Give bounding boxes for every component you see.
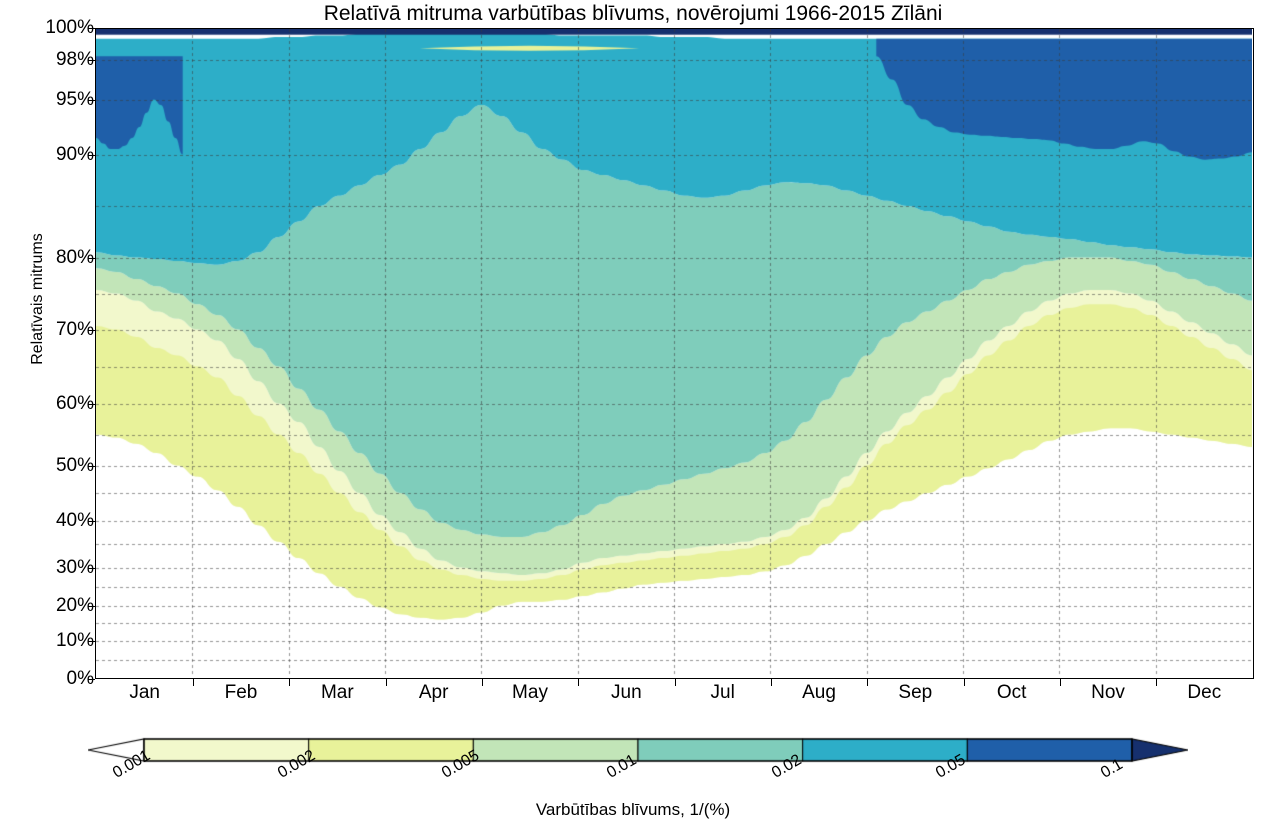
- x-axis-tick-mark: [1060, 679, 1061, 686]
- colorbar-canvas: [88, 733, 1188, 767]
- x-axis-tick-label: Jul: [711, 682, 735, 704]
- y-axis-tick-mark: [88, 568, 95, 569]
- colorbar: [88, 733, 1188, 767]
- colorbar-title: Varbūtības blīvums, 1/(%): [0, 800, 1266, 820]
- y-axis-tick-mark: [88, 404, 95, 405]
- x-axis-tick-mark: [1156, 679, 1157, 686]
- y-axis-tick-mark: [88, 330, 95, 331]
- y-axis-tick-mark: [88, 100, 95, 101]
- x-axis-tick-mark: [386, 679, 387, 686]
- plot-area: [95, 28, 1254, 679]
- x-axis-tick-label: Sep: [898, 682, 932, 704]
- y-axis-title: Relatīvais mitrums: [29, 169, 47, 429]
- x-axis-tick-mark: [771, 679, 772, 686]
- x-axis-tick-mark: [675, 679, 676, 686]
- y-axis-tick-mark: [88, 641, 95, 642]
- x-axis-tick-mark: [482, 679, 483, 686]
- y-axis-tick-mark: [88, 28, 95, 29]
- x-axis-tick-label: Aug: [802, 682, 836, 704]
- y-axis-tick-mark: [88, 466, 95, 467]
- x-axis-tick-label: May: [512, 682, 548, 704]
- x-axis-tick-mark: [964, 679, 965, 686]
- x-axis-tick-label: Oct: [997, 682, 1027, 704]
- x-axis-tick-label: Dec: [1187, 682, 1221, 704]
- x-axis-tick-label: Jun: [611, 682, 642, 704]
- contour-plot-canvas: [96, 29, 1252, 677]
- y-axis-tick-mark: [88, 606, 95, 607]
- x-axis-tick-mark: [193, 679, 194, 686]
- y-axis-tick-mark: [88, 60, 95, 61]
- y-axis-tick-mark: [88, 155, 95, 156]
- x-axis-tick-label: Jan: [129, 682, 160, 704]
- y-axis-tick-mark: [88, 258, 95, 259]
- x-axis-tick-mark: [289, 679, 290, 686]
- x-axis-tick-label: Apr: [419, 682, 449, 704]
- x-axis-tick-label: Mar: [321, 682, 354, 704]
- chart-root: Relatīvā mitruma varbūtības blīvums, nov…: [0, 0, 1266, 834]
- x-axis-tick-mark: [578, 679, 579, 686]
- y-axis-tick-mark: [88, 521, 95, 522]
- y-axis-tick-mark: [88, 679, 95, 680]
- y-axis-tick-label: 100%: [45, 17, 94, 39]
- x-axis-tick-mark: [867, 679, 868, 686]
- x-axis-tick-label: Feb: [225, 682, 258, 704]
- page-title: Relatīvā mitruma varbūtības blīvums, nov…: [0, 2, 1266, 26]
- x-axis-tick-label: Nov: [1091, 682, 1125, 704]
